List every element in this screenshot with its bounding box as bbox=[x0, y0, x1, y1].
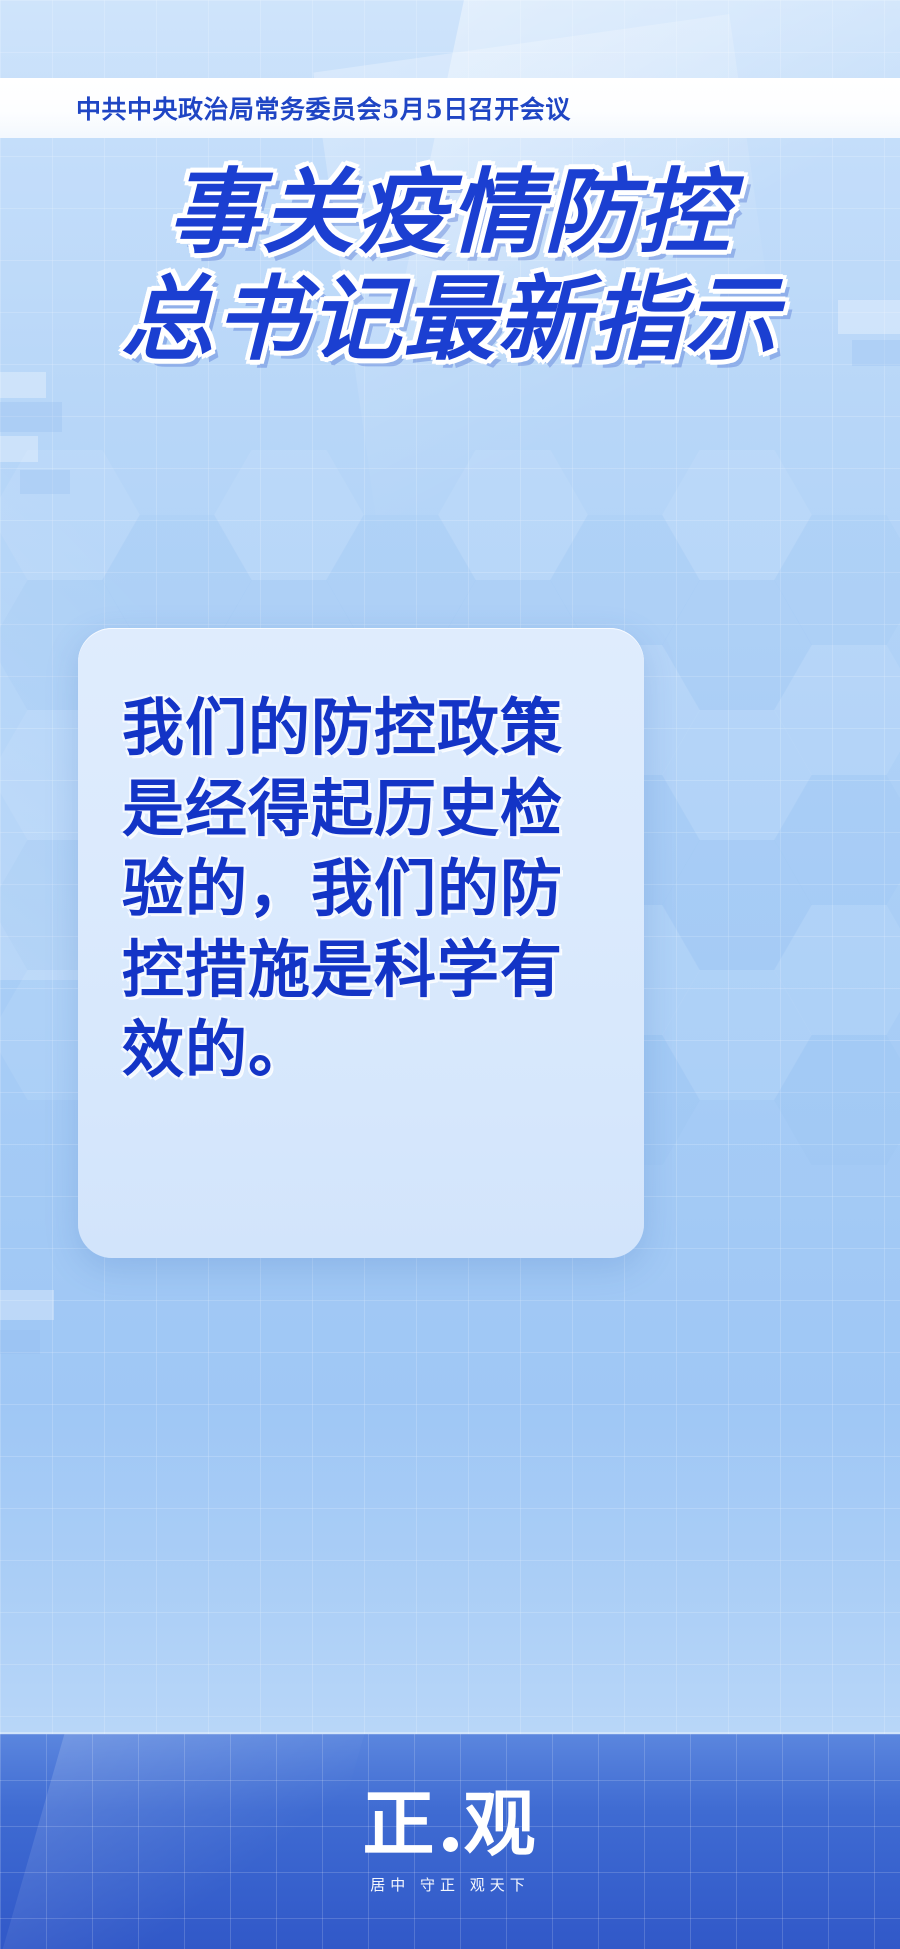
brand-band: 正 观 居中 守正 观天下 bbox=[0, 1734, 900, 1949]
poster-root: 中共中央政治局常务委员会5月5日召开会议 事关疫情防控 总书记最新指示 我们的防… bbox=[0, 0, 900, 1949]
headline-line-2: 总书记最新指示 bbox=[0, 267, 900, 374]
logo[interactable]: 正 观 bbox=[362, 1788, 537, 1860]
quote-card: 我们的防控政策是经得起历史检验的，我们的防控措施是科学有效的。 bbox=[78, 628, 644, 1258]
brand-tagline: 居中 守正 观天下 bbox=[370, 1874, 530, 1895]
page-title: 事关疫情防控 总书记最新指示 bbox=[0, 160, 900, 373]
logo-char-zheng: 正 bbox=[362, 1788, 436, 1860]
quote-text: 我们的防控政策是经得起历史检验的，我们的防控措施是科学有效的。 bbox=[122, 688, 608, 1091]
mosaic-tile bbox=[0, 402, 62, 432]
headline-line-1: 事关疫情防控 bbox=[0, 160, 900, 267]
mosaic-tile bbox=[0, 372, 46, 398]
mosaic-tile bbox=[0, 1330, 40, 1354]
logo-char-guan: 观 bbox=[464, 1788, 538, 1860]
mosaic-tile bbox=[0, 1290, 54, 1320]
mosaic-tile bbox=[20, 470, 70, 494]
kicker-band: 中共中央政治局常务委员会5月5日召开会议 bbox=[0, 78, 900, 138]
mosaic-tile bbox=[0, 436, 38, 462]
logo-dot-icon bbox=[443, 1837, 458, 1852]
kicker-text: 中共中央政治局常务委员会5月5日召开会议 bbox=[76, 90, 571, 126]
